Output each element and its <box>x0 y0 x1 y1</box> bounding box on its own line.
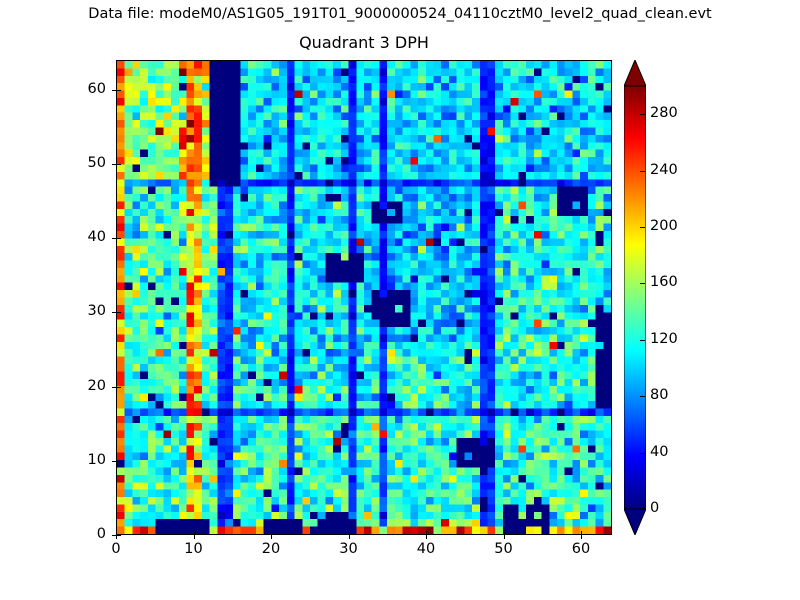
y-tick-mark-inner <box>117 312 121 313</box>
x-tick-label: 40 <box>396 541 456 557</box>
x-tick-mark <box>504 535 505 539</box>
figure-canvas: Data file: modeM0/AS1G05_191T01_90000005… <box>0 0 800 600</box>
x-tick-mark-inner <box>271 531 272 535</box>
colorbar <box>624 60 646 535</box>
y-tick-label: 0 <box>62 526 106 542</box>
y-tick-label: 40 <box>62 229 106 245</box>
colorbar-tick-mark <box>640 396 645 397</box>
x-tick-mark-inner <box>349 531 350 535</box>
colorbar-tick-label: 40 <box>650 444 668 460</box>
y-tick-mark <box>112 312 116 313</box>
x-tick-mark <box>581 535 582 539</box>
y-tick-mark <box>112 461 116 462</box>
colorbar-tick-mark <box>640 453 645 454</box>
colorbar-tick-mark <box>640 340 645 341</box>
x-tick-label: 10 <box>164 541 224 557</box>
y-tick-label: 60 <box>62 81 106 97</box>
colorbar-tick-mark <box>640 171 645 172</box>
y-tick-mark-inner <box>117 535 121 536</box>
y-tick-mark-inner <box>117 387 121 388</box>
x-tick-label: 0 <box>86 541 146 557</box>
data-file-title: Data file: modeM0/AS1G05_191T01_90000005… <box>0 6 800 22</box>
x-tick-mark <box>426 535 427 539</box>
x-tick-mark <box>349 535 350 539</box>
y-tick-mark <box>112 90 116 91</box>
x-tick-mark-inner <box>426 531 427 535</box>
y-tick-mark-inner <box>117 164 121 165</box>
y-tick-label: 30 <box>62 303 106 319</box>
y-tick-mark-inner <box>117 90 121 91</box>
colorbar-tick-mark <box>640 509 645 510</box>
x-tick-label: 60 <box>551 541 611 557</box>
y-tick-mark <box>112 238 116 239</box>
x-tick-label: 50 <box>474 541 534 557</box>
colorbar-tick-label: 120 <box>650 331 678 347</box>
colorbar-tick-label: 160 <box>650 274 678 290</box>
y-tick-label: 20 <box>62 378 106 394</box>
x-tick-label: 20 <box>241 541 301 557</box>
colorbar-tick-label: 280 <box>650 105 678 121</box>
x-tick-mark-inner <box>581 531 582 535</box>
y-tick-mark <box>112 164 116 165</box>
colorbar-tick-label: 0 <box>650 500 659 516</box>
x-tick-mark-inner <box>504 531 505 535</box>
y-tick-mark <box>112 535 116 536</box>
y-tick-label: 50 <box>62 155 106 171</box>
x-tick-label: 30 <box>319 541 379 557</box>
x-tick-mark <box>194 535 195 539</box>
colorbar-tick-mark <box>640 227 645 228</box>
colorbar-tick-label: 80 <box>650 387 668 403</box>
colorbar-tick-mark <box>640 114 645 115</box>
colorbar-tick-mark <box>640 283 645 284</box>
x-tick-mark <box>271 535 272 539</box>
y-tick-label: 10 <box>62 452 106 468</box>
colorbar-gradient <box>624 60 646 535</box>
plot-title: Quadrant 3 DPH <box>116 33 612 52</box>
y-tick-mark-inner <box>117 461 121 462</box>
y-tick-mark-inner <box>117 238 121 239</box>
colorbar-tick-label: 200 <box>650 218 678 234</box>
dph-heatmap-image <box>117 61 611 534</box>
heatmap-axes <box>116 60 612 535</box>
y-tick-mark <box>112 387 116 388</box>
x-tick-mark-inner <box>194 531 195 535</box>
colorbar-tick-label: 240 <box>650 162 678 178</box>
